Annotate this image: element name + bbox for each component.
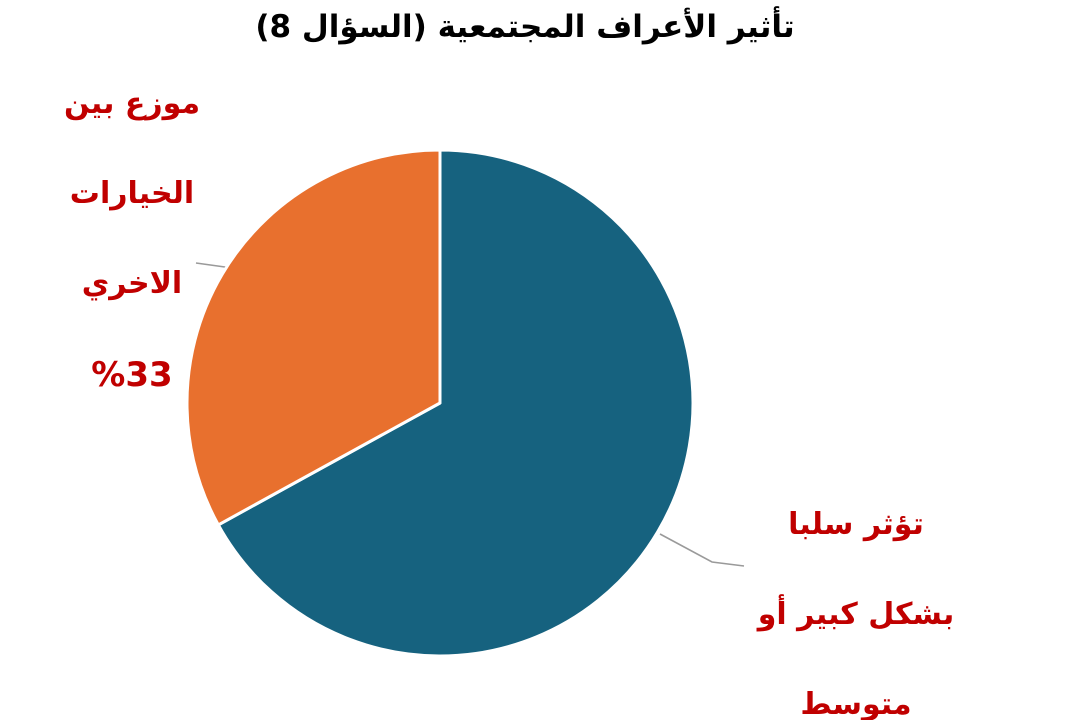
- data-label-other-line1: موزع بين: [24, 81, 240, 126]
- chart-canvas: تأثير الأعراف المجتمعية (السؤال 8) موزع …: [0, 0, 1080, 720]
- data-label-other: موزع بين الخيارات الاخري %33: [24, 36, 240, 444]
- data-label-other-percent: %33: [24, 351, 240, 399]
- data-label-other-line2: الخيارات: [24, 171, 240, 216]
- data-label-negative-line2: بشكل كبير أو: [706, 592, 1006, 637]
- data-label-negative: تؤثر سلبا بشكل كبير أو متوسط %67: [706, 457, 1006, 720]
- data-label-negative-line3: متوسط: [706, 682, 1006, 720]
- data-label-negative-line1: تؤثر سلبا: [706, 502, 1006, 547]
- data-label-other-line3: الاخري: [24, 261, 240, 306]
- pie-slice-negative[interactable]: [218, 150, 693, 656]
